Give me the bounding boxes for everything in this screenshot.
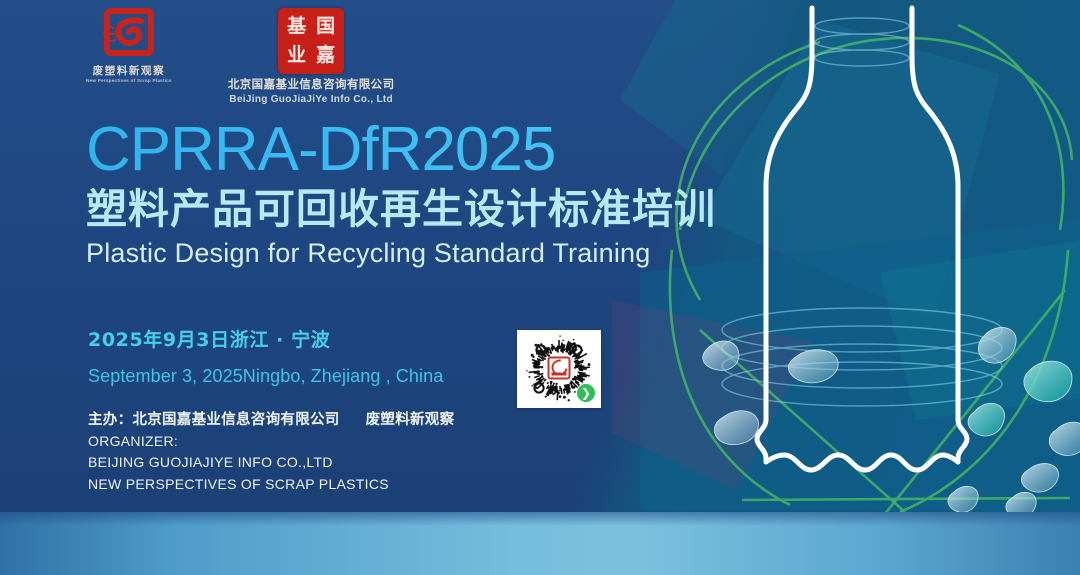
event-date-en: September 3, 2025Ningbo, Zhejiang , Chin… [88, 365, 443, 388]
organizer-host-en-1: BEIJING GUOJIAJIYE INFO CO.,LTD [88, 452, 454, 474]
wechat-miniprogram-badge: ❯ [576, 383, 596, 403]
organizer-line-cn: 主办：北京国嘉基业信息咨询有限公司废塑料新观察 [88, 411, 454, 431]
red-seal-icon: 基 国 业 嘉 [278, 8, 344, 74]
scrap-plastics-logo: 废塑料新观察 New Perspectives of Scrap Plastic… [86, 8, 172, 84]
seal-char-3: 业 [282, 41, 311, 70]
bottom-gradient-band [0, 512, 1080, 575]
event-code-title: CPRRA-DfR2025 [86, 120, 716, 181]
guojiajiye-name-en: BeiJing GuoJiaJiYe Info Co., Ltd [229, 94, 393, 107]
guojiajiye-logo: 基 国 业 嘉 北京国嘉基业信息咨询有限公司 BeiJing GuoJiaJiY… [228, 8, 395, 106]
spiral-swirl-icon [101, 8, 157, 60]
event-meta-block: 2025年9月3日浙江 · 宁波 September 3, 2025Ningbo… [88, 329, 443, 387]
qr-inner: ❯ [520, 333, 598, 405]
event-title-en: Plastic Design for Recycling Standard Tr… [86, 238, 716, 269]
scrap-plastics-name-en: New Perspectives of Scrap Plastics [86, 78, 172, 84]
headline-block: CPRRA-DfR2025 塑料产品可回收再生设计标准培训 Plastic De… [86, 120, 716, 269]
event-date-cn: 2025年9月3日浙江 · 宁波 [88, 329, 443, 353]
organizer-block: 主办：北京国嘉基业信息咨询有限公司废塑料新观察 ORGANIZER: BEIJI… [88, 411, 454, 496]
guojiajiye-name-cn: 北京国嘉基业信息咨询有限公司 [228, 79, 395, 93]
organizer-label-cn: 主办： [88, 412, 132, 428]
seal-char-1: 基 [282, 12, 311, 41]
scrap-plastics-name-cn: 废塑料新观察 [93, 65, 166, 77]
wechat-qr-card[interactable]: ❯ [517, 330, 601, 408]
seal-char-2: 国 [311, 12, 340, 41]
seal-char-4: 嘉 [311, 41, 340, 70]
logo-row: 废塑料新观察 New Perspectives of Scrap Plastic… [86, 8, 394, 106]
qr-center-logo [548, 356, 571, 379]
organizer-host-en-2: NEW PERSPECTIVES OF SCRAP PLASTICS [88, 474, 454, 496]
poster-canvas: 废塑料新观察 New Perspectives of Scrap Plastic… [0, 0, 1080, 575]
organizer-host-cn-2: 废塑料新观察 [366, 412, 455, 428]
organizer-host-cn-1: 北京国嘉基业信息咨询有限公司 [132, 412, 339, 428]
organizer-label-en: ORGANIZER: [88, 431, 454, 453]
event-title-cn: 塑料产品可回收再生设计标准培训 [86, 187, 716, 232]
